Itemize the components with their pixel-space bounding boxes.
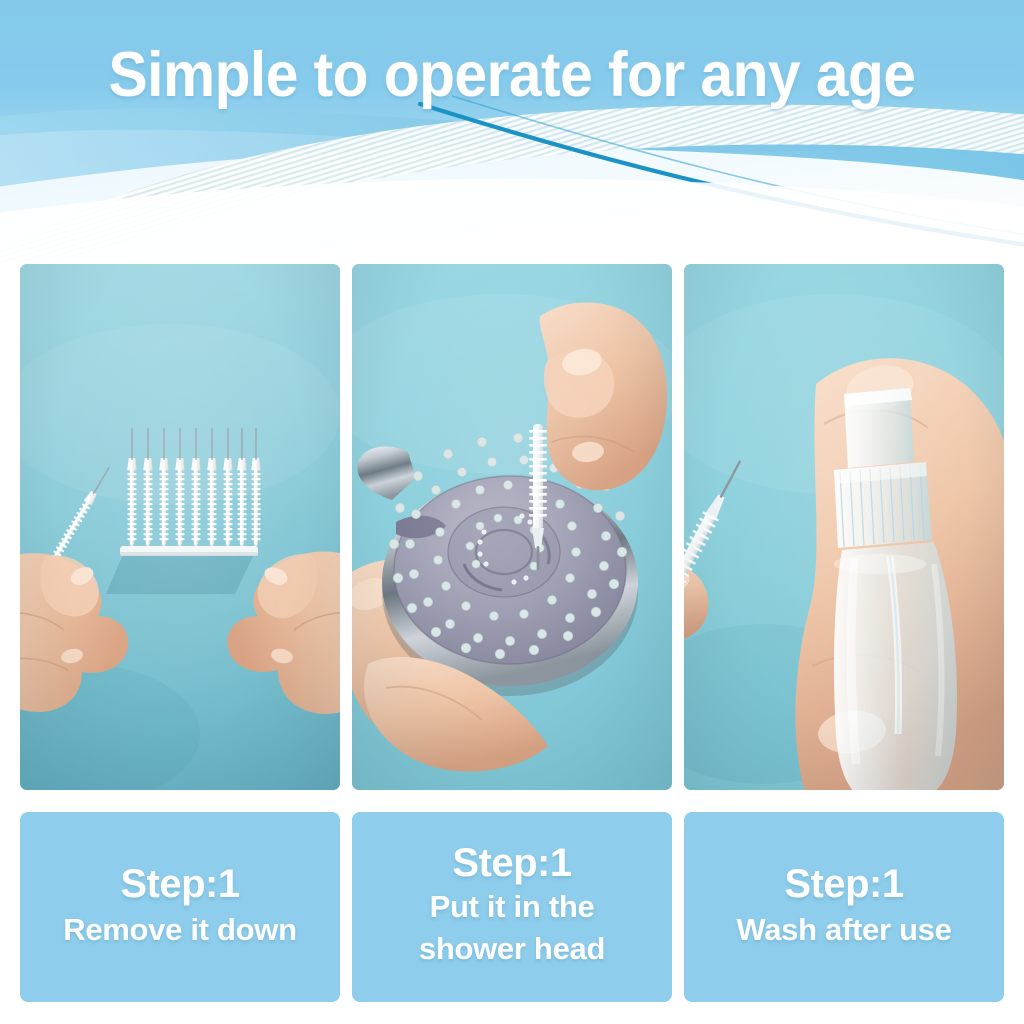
caption-description-line: Remove it down <box>63 909 297 951</box>
caption-step-label: Step:1 <box>784 859 903 909</box>
photo-panel-shower-head <box>352 264 672 790</box>
caption-description-line: Put it in the <box>430 886 595 928</box>
header-banner: Simple to operate for any age <box>0 0 1024 262</box>
caption-step-label: Step:1 <box>452 840 571 886</box>
caption-box-step-1: Step:1 Remove it down <box>20 812 340 1002</box>
caption-box-step-3: Step:1 Wash after use <box>684 812 1004 1002</box>
photo-panel-spray-bottle <box>684 264 1004 790</box>
caption-description-line: Wash after use <box>736 909 951 951</box>
panel-2-vignette <box>352 264 672 790</box>
infographic-page: Simple to operate for any age <box>0 0 1024 1024</box>
photo-panel-row <box>20 264 1004 790</box>
caption-box-step-2: Step:1 Put it in the shower head <box>352 812 672 1002</box>
caption-step-label: Step:1 <box>120 859 239 909</box>
photo-panel-brush-strip <box>20 264 340 790</box>
panel-3-vignette <box>684 264 1004 790</box>
page-title: Simple to operate for any age <box>36 38 988 112</box>
caption-description-line: shower head <box>419 928 605 970</box>
panel-1-vignette <box>20 264 340 790</box>
caption-row: Step:1 Remove it down Step:1 Put it in t… <box>20 812 1004 1002</box>
